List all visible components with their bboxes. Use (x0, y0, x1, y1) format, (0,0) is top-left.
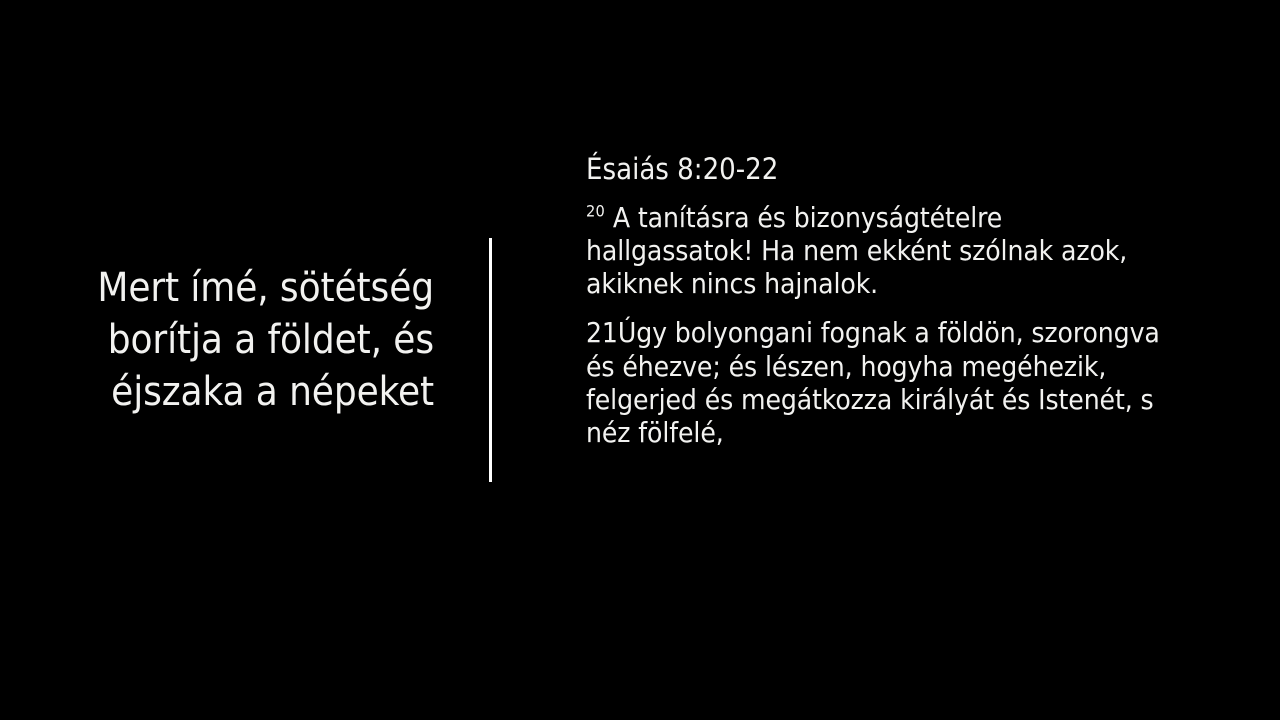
slide-heading: Mert ímé, sötétség borítja a földet, és … (70, 262, 434, 418)
scripture-reference: Ésaiás 8:20-22 (586, 152, 1172, 187)
verse-number: 21 (586, 316, 618, 349)
heading-text: Mert ímé, sötétség borítja a földet, és … (70, 262, 434, 418)
verse-paragraph: 21Úgy bolyongani fognak a földön, szoron… (586, 316, 1172, 448)
verse-text: A tanításra és bizonyságtételre hallgass… (586, 201, 1127, 300)
verse-text: Úgy bolyongani fognak a földön, szorongv… (586, 316, 1160, 448)
scripture-block: Ésaiás 8:20-22 20 A tanításra és bizonys… (586, 152, 1172, 452)
verse-paragraph: 20 A tanításra és bizonyságtételre hallg… (586, 201, 1172, 300)
vertical-divider-rule (489, 238, 492, 482)
verse-number: 20 (586, 202, 605, 221)
presentation-slide: Mert ímé, sötétség borítja a földet, és … (0, 0, 1280, 720)
